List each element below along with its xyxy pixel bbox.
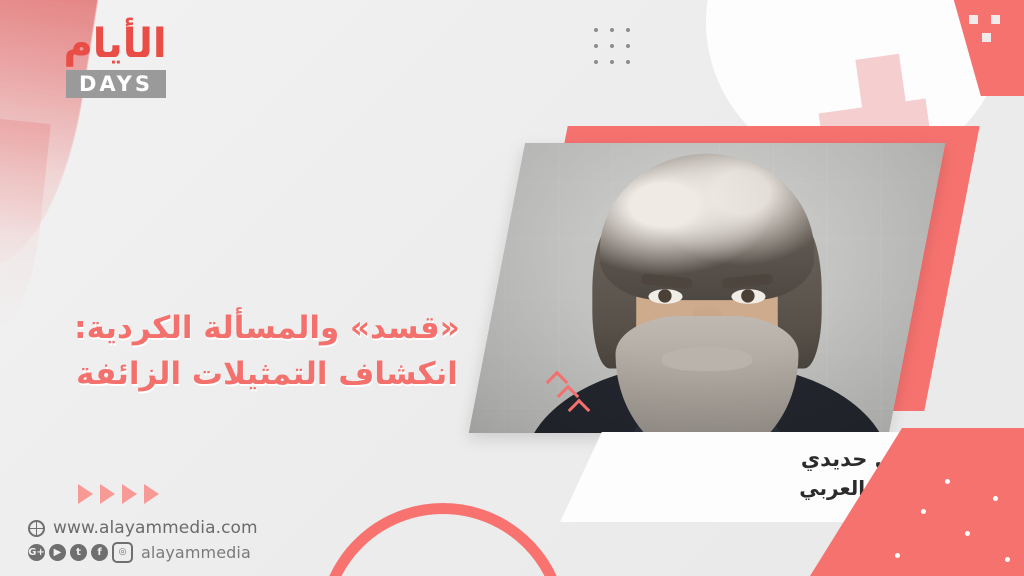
- grid-dot: [610, 44, 614, 48]
- social-icons[interactable]: G+ ▶ t f ◎: [28, 542, 133, 563]
- grid-dot: [594, 44, 598, 48]
- twitter-icon[interactable]: t: [70, 544, 87, 561]
- corner-square-decor: [982, 33, 991, 42]
- portrait-vignette: [469, 143, 945, 433]
- grid-dot: [610, 60, 614, 64]
- scatter-dot: [895, 553, 900, 558]
- portrait-photo: [469, 143, 945, 433]
- scatter-dot: [945, 479, 950, 484]
- arrow-triangles-decor: [78, 484, 159, 504]
- scatter-dot: [921, 509, 926, 514]
- grid-dot: [594, 28, 598, 32]
- logo-latin-bar: DAYS: [66, 70, 166, 98]
- grid-dot: [594, 60, 598, 64]
- grid-dot: [610, 28, 614, 32]
- logo[interactable]: الأيام DAYS: [54, 26, 176, 106]
- corner-square-decor: [991, 15, 1000, 24]
- portrait-frame: [469, 143, 945, 433]
- grid-dot: [626, 44, 630, 48]
- page-title: «قسد» والمسألة الكردية: انكشاف التمثيلات…: [52, 306, 482, 398]
- logo-arabic-text: الأيام: [54, 24, 176, 64]
- triangle-right-icon: [100, 484, 115, 504]
- scatter-dot: [993, 496, 998, 501]
- headline-line-1: «قسد» والمسألة الكردية:: [52, 306, 482, 352]
- corner-square-decor: [969, 15, 978, 24]
- globe-icon: [28, 520, 45, 537]
- scatter-dot: [1005, 557, 1010, 562]
- facebook-icon[interactable]: f: [91, 544, 108, 561]
- social-handle: alayammedia: [141, 543, 251, 562]
- chevron-up-icon-group: [549, 374, 603, 426]
- social-media-quote-card: صبحي حديدي القدس العربي الأيام DAYS «قسد…: [0, 0, 1024, 576]
- instagram-icon[interactable]: ◎: [112, 542, 133, 563]
- youtube-icon[interactable]: ▶: [49, 544, 66, 561]
- grid-dot: [626, 60, 630, 64]
- logo-latin-text: DAYS: [79, 72, 153, 96]
- scatter-dot: [965, 531, 970, 536]
- website-url: www.alayammedia.com: [53, 518, 258, 538]
- google-plus-icon[interactable]: G+: [28, 544, 45, 561]
- triangle-right-icon: [78, 484, 93, 504]
- headline-line-2: انكشاف التمثيلات الزائفة: [52, 352, 482, 398]
- grid-dot: [626, 28, 630, 32]
- triangle-right-icon: [144, 484, 159, 504]
- dot-grid-decor: [594, 28, 642, 76]
- triangle-right-icon: [122, 484, 137, 504]
- social-row[interactable]: G+ ▶ t f ◎ alayammedia: [28, 542, 251, 563]
- website-row[interactable]: www.alayammedia.com: [28, 518, 258, 538]
